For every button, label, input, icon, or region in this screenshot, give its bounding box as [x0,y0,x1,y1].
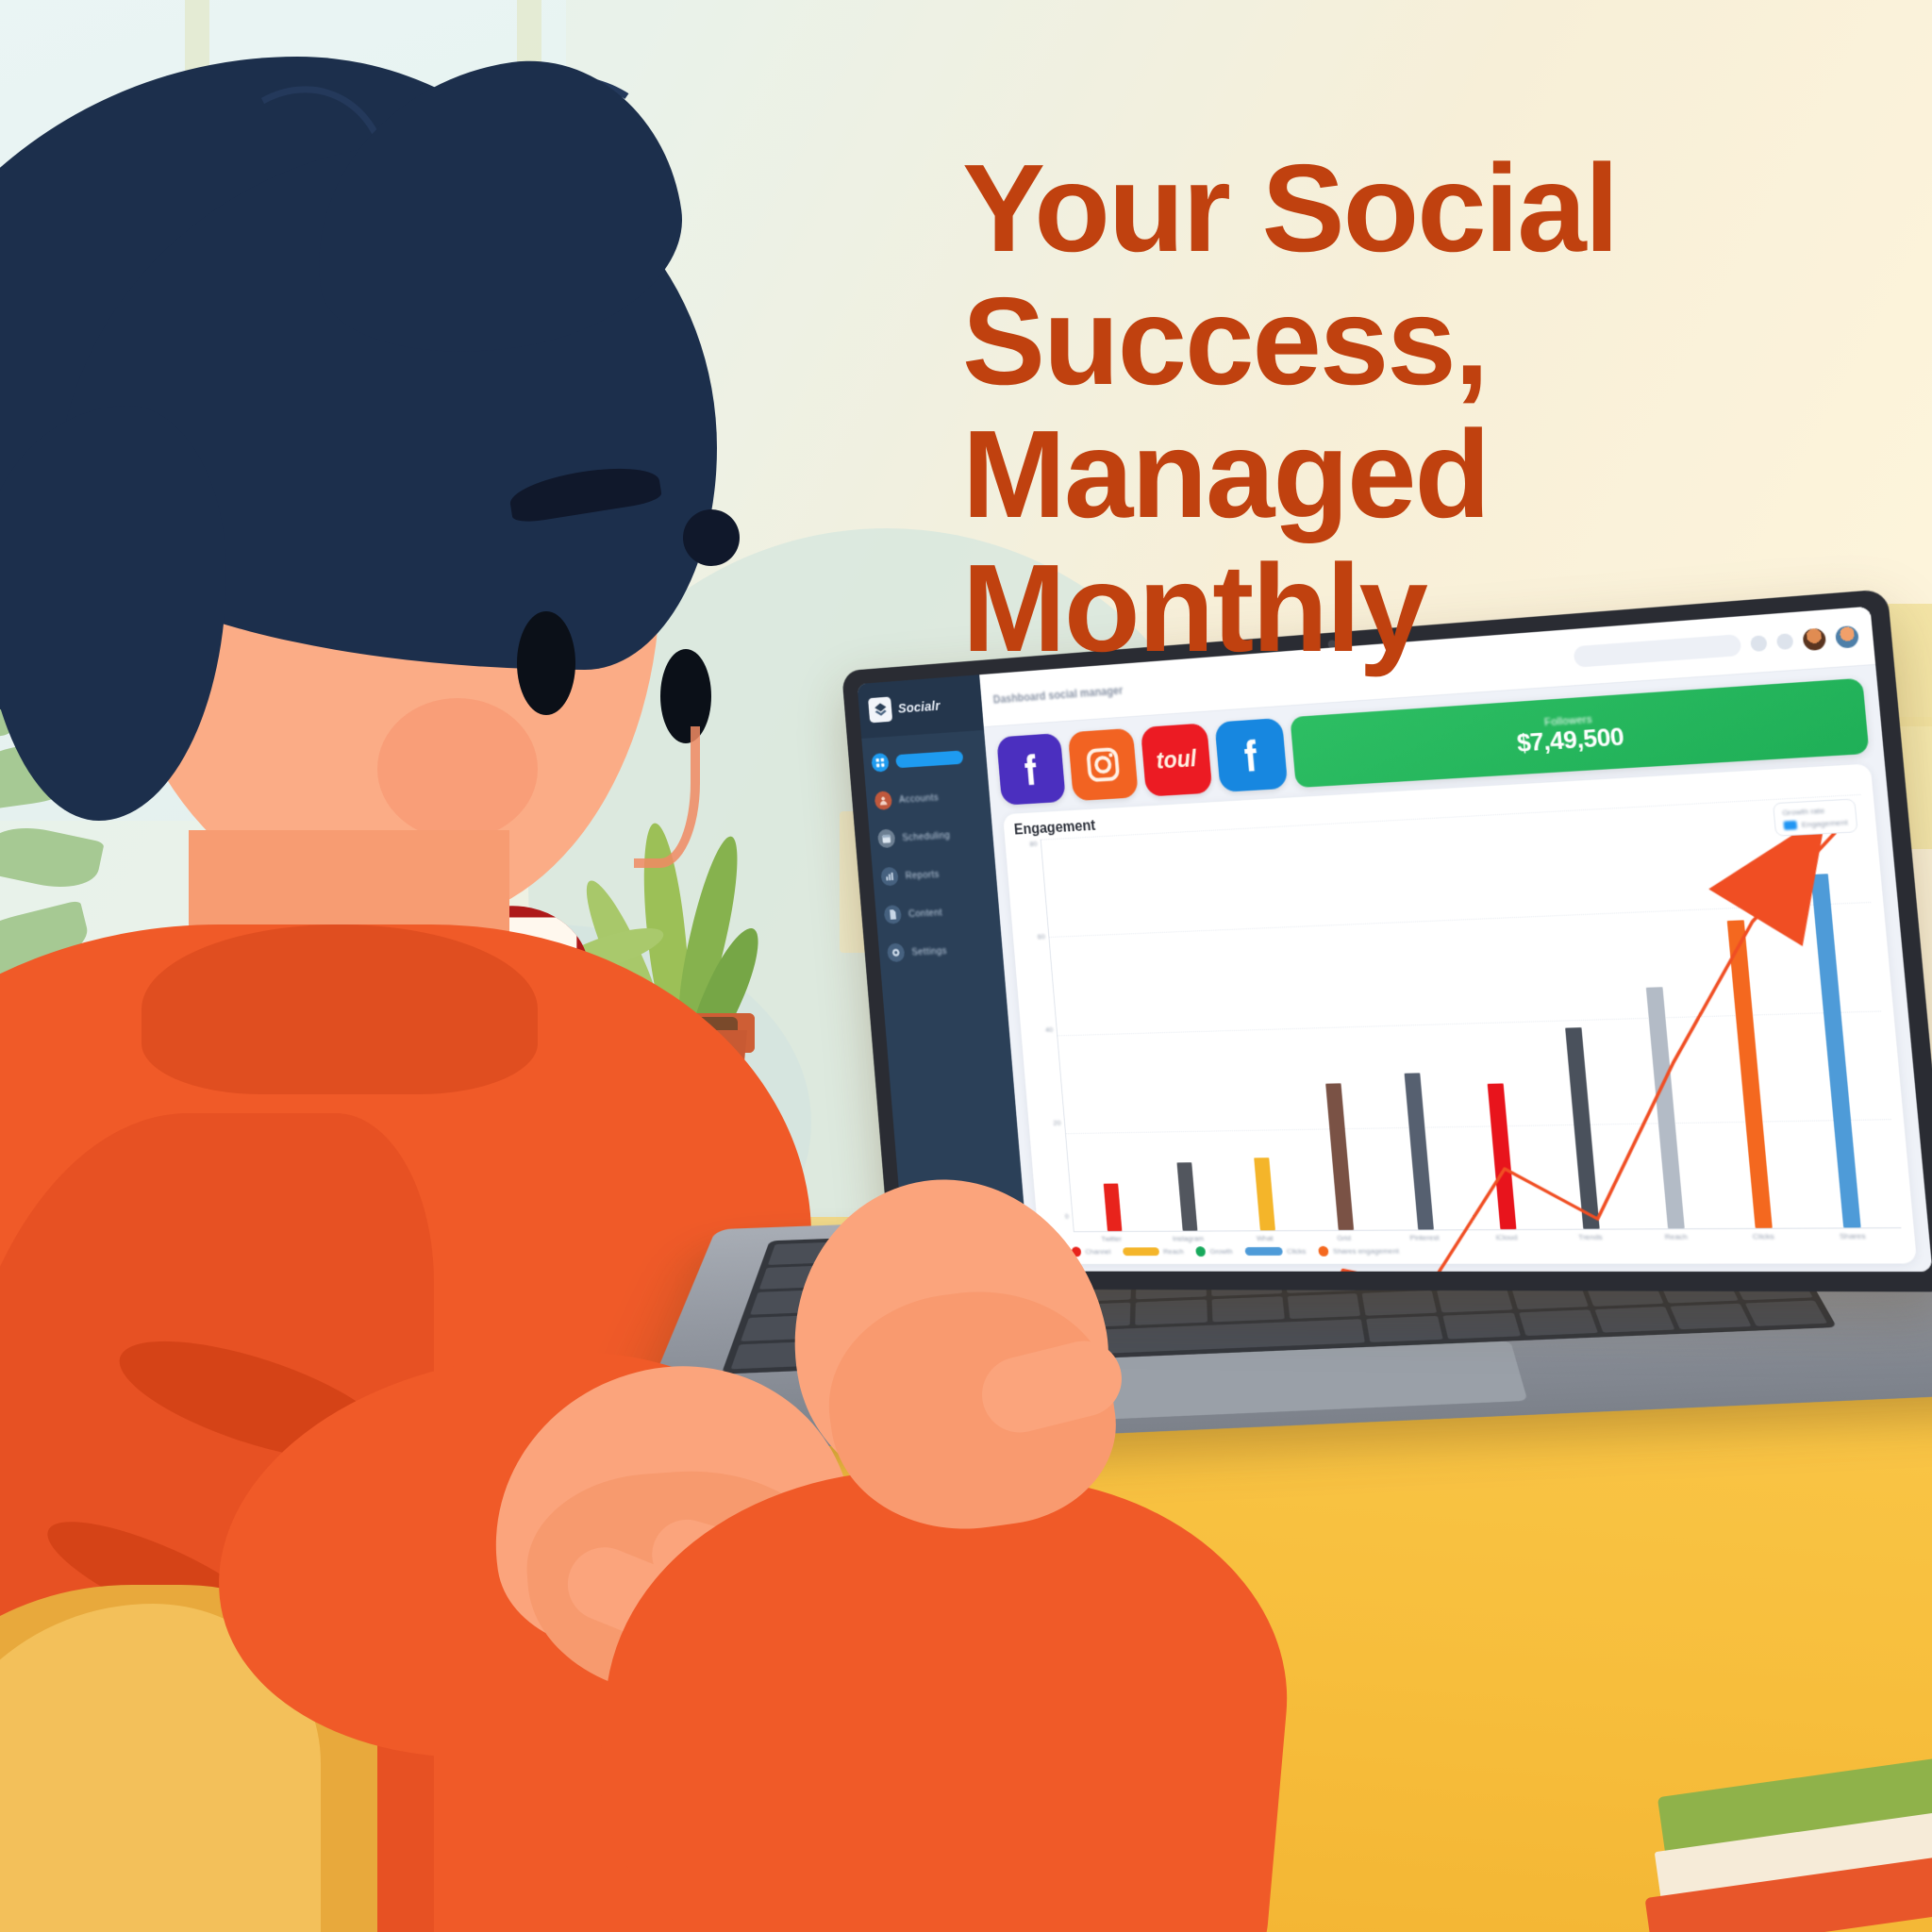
bar [1325,1083,1354,1229]
y-tick: 60 [1038,932,1046,941]
headline-line-2: Success, [962,275,1906,408]
blush [377,698,538,840]
brand-name: Socialr [897,698,941,716]
bar [1565,1027,1600,1228]
legend-label: Shares engagement [1333,1247,1400,1256]
legend-item: Reach [1123,1246,1184,1257]
laptop-lid: Socialr [841,589,1932,1291]
chart-legend: ChannelReachGrowthClicksShares engagemen… [1049,1241,1904,1258]
bar [1405,1074,1434,1230]
bar [1487,1084,1516,1229]
brand[interactable]: Socialr [858,675,985,739]
bar [1726,921,1772,1228]
youtube-glyph: toul [1156,745,1198,774]
y-tick: 80 [1029,840,1038,848]
x-tick: Instagram [1173,1234,1203,1242]
bar [1177,1163,1198,1231]
sidebar-item-label: Reports [905,869,940,881]
x-tick: Pinterest [1408,1233,1441,1241]
y-tick: 20 [1053,1119,1061,1127]
headline: Your Social Success, Managed Monthly [962,142,1906,675]
x-tick: Grid [1328,1234,1360,1242]
dashboard-screen: Socialr [858,607,1932,1272]
sidebar-item-content[interactable]: Content [884,901,992,924]
plot-area: Growth rate Engagement [1041,794,1902,1232]
main-panel: Dashboard social manager [979,607,1932,1272]
legend-marker [1123,1247,1159,1256]
sidebar-nav: Accounts Scheduling [861,730,1003,962]
headline-line-1: Your Social [962,142,1906,275]
engagement-chart-card: Engagement 80 60 40 20 0 [1003,763,1917,1263]
facebook-secondary-icon[interactable] [1214,718,1288,792]
x-tick: Twitter [1096,1235,1126,1243]
legend-item: Channel [1072,1246,1111,1257]
stat-value: $7,49,500 [1516,724,1625,757]
sidebar-item-scheduling[interactable]: Scheduling [877,824,985,848]
legend-swatch [1783,821,1797,830]
poster-canvas: Socialr [0,0,1932,1932]
headline-line-3: Managed [962,408,1906,541]
bar [1254,1158,1275,1230]
y-tick: 0 [1065,1212,1070,1221]
youtube-icon[interactable]: toul [1141,723,1213,796]
sidebar-item-accounts[interactable]: Accounts [874,785,982,810]
sidebar-item-reports[interactable]: Reports [880,862,988,887]
legend-label: Growth [1209,1247,1233,1256]
legend-item: Clicks [1244,1246,1307,1257]
file-icon [884,905,903,924]
legend-marker [1195,1246,1206,1257]
y-tick: 40 [1045,1025,1054,1034]
collar [142,924,538,1094]
x-tick: Reach [1659,1232,1693,1241]
app-logo-icon [868,696,892,723]
bar [1646,987,1685,1228]
legend-marker [1244,1247,1282,1256]
bar [1810,874,1860,1227]
grid-icon [871,753,890,773]
legend-label: Channel [1085,1247,1111,1256]
instagram-icon[interactable] [1068,728,1139,802]
legend-label: Reach [1163,1247,1184,1256]
sidebar-item-settings[interactable]: Settings [887,940,995,962]
legend-box-series: Engagement [1801,818,1848,829]
legend-item: Growth [1195,1246,1233,1257]
legend-label: Clicks [1287,1247,1307,1256]
sidebar-item-dashboard[interactable] [871,747,978,773]
sidebar-item-label: Scheduling [902,829,951,842]
x-tick: iCloud [1491,1233,1524,1241]
chart-legend-box: Growth rate Engagement [1773,798,1858,836]
eye-left [517,611,575,715]
headline-line-4: Monthly [962,541,1906,675]
legend-item: Shares engagement [1318,1246,1399,1257]
bar [1104,1184,1123,1231]
eyebrow-secondary [683,509,740,566]
x-tick: What [1249,1234,1280,1242]
x-tick: Shares [1835,1231,1871,1241]
sidebar-item-label: Content [908,907,943,919]
sidebar-item-label: Settings [911,945,947,958]
x-tick: Trends [1574,1233,1607,1241]
user-icon [874,791,893,810]
sidebar-item-label [895,750,963,768]
dashboard-content: toul Followers $7,49,500 [984,665,1932,1272]
gear-icon [887,943,906,962]
facebook-icon[interactable] [996,733,1066,806]
x-tick: Clicks [1746,1232,1781,1241]
chart-plot: 80 60 40 20 0 [1015,794,1901,1232]
calendar-icon [877,828,896,848]
bar-series [1041,794,1902,1231]
chart-icon [880,867,899,887]
sidebar-item-label: Accounts [899,791,940,805]
legend-marker [1318,1246,1328,1257]
legend-box-title: Growth rate [1782,805,1847,817]
